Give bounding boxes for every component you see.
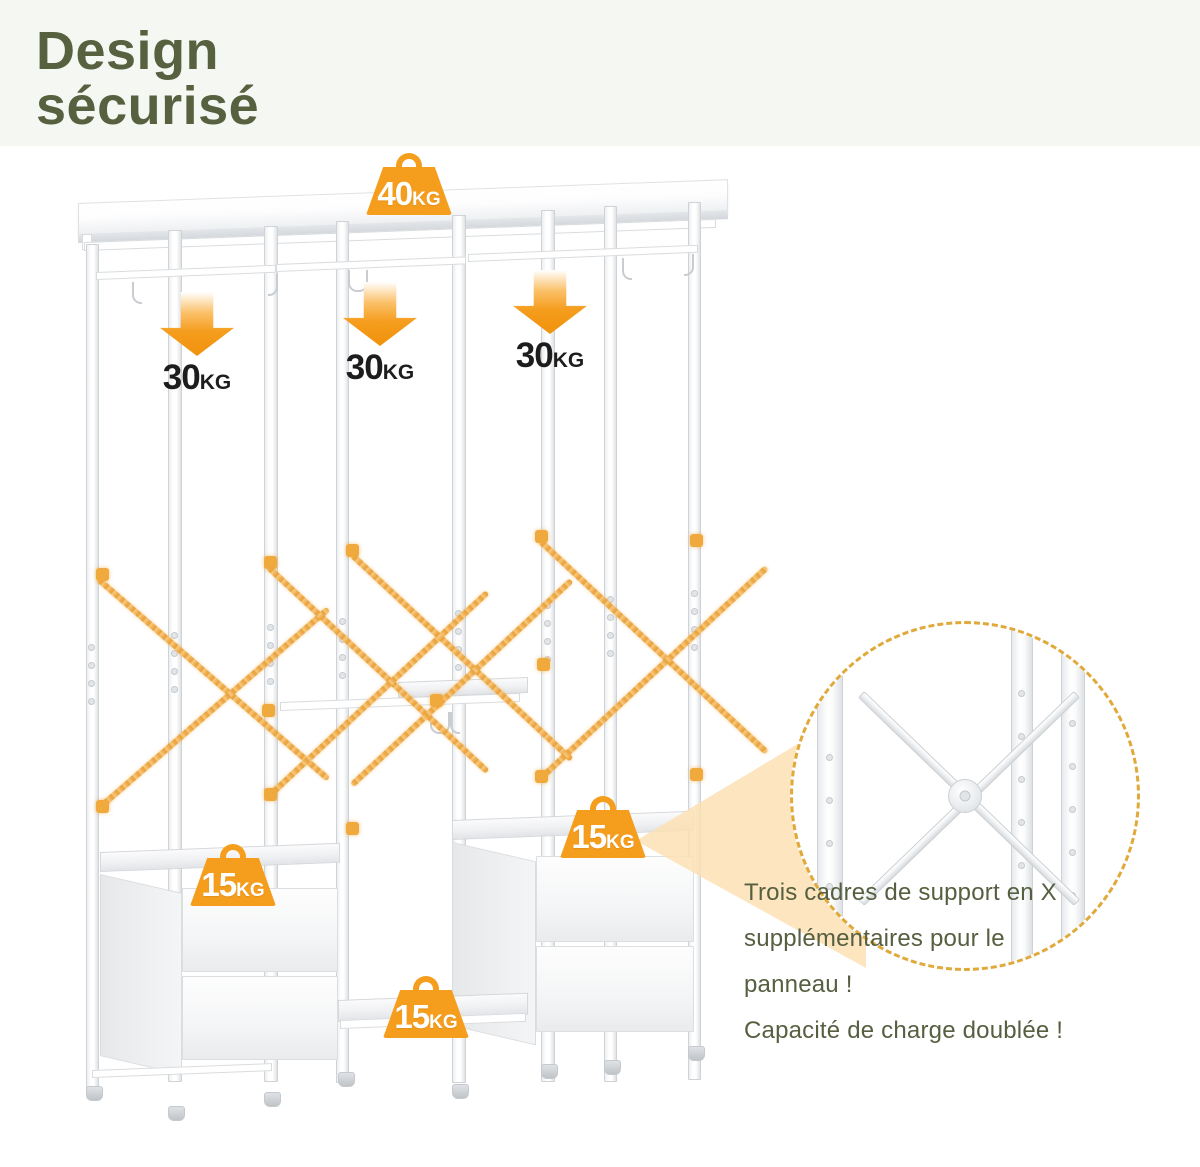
- caption-line-2: supplémentaires pour le: [744, 916, 1184, 962]
- x-brace-knot-1-top: [96, 568, 109, 581]
- badge-unit: KG: [606, 832, 635, 853]
- load-unit: KG: [553, 349, 585, 372]
- page-title: Design sécurisé: [36, 24, 259, 134]
- caption-line-3: panneau !: [744, 962, 1184, 1008]
- foot-3: [264, 1092, 281, 1107]
- rivets-post-1: [88, 644, 95, 705]
- x-brace-knot-4-end-top: [690, 534, 703, 547]
- x-brace-1-a: [96, 577, 330, 782]
- foot-5: [452, 1084, 469, 1099]
- caption-line-1: Trois cadres de support en X: [744, 870, 1184, 916]
- x-brace-4-a: [538, 539, 769, 755]
- foot-2: [168, 1106, 185, 1121]
- load-label-rod-left: 30KG: [132, 292, 262, 395]
- hanging-rod-right: [468, 245, 698, 262]
- badge-unit: KG: [429, 1012, 458, 1033]
- badge-left-shelf-15kg: 15KG: [190, 844, 276, 906]
- badge-right-shelf-15kg: 15KG: [560, 796, 646, 858]
- x-brace-knot-2-top: [264, 556, 277, 569]
- load-value: 30: [163, 358, 200, 397]
- foot-1: [86, 1086, 103, 1101]
- load-value: 30: [516, 336, 553, 375]
- hook-icon-center-c: [450, 712, 460, 734]
- zoom-x-center-bolt: [948, 779, 982, 813]
- drawer-right-top[interactable]: [536, 856, 694, 942]
- badge-value: 40: [377, 175, 412, 212]
- x-brace-knot-2-bot: [264, 788, 277, 801]
- foot-7: [604, 1060, 621, 1075]
- load-label-rod-middle: 30KG: [315, 282, 445, 385]
- down-arrow-icon: [160, 292, 234, 356]
- x-brace-knot-1-bot: [96, 800, 109, 813]
- rivets-post-8: [691, 590, 698, 651]
- load-unit: KG: [200, 371, 232, 394]
- badge-value: 15: [394, 998, 429, 1035]
- drawer-left-bottom[interactable]: [182, 976, 338, 1060]
- rivets-post-6: [544, 602, 551, 663]
- badge-unit: KG: [412, 189, 441, 210]
- x-brace-cross-3: [537, 658, 550, 671]
- load-label-rod-right: 30KG: [485, 270, 615, 373]
- hanging-rod-left: [96, 265, 276, 280]
- load-value: 30: [346, 348, 383, 387]
- x-brace-knot-4-top: [535, 530, 548, 543]
- foot-8: [688, 1046, 705, 1061]
- caption-line-4: Capacité de charge doublée !: [744, 1008, 1184, 1054]
- x-brace-knot-4-end-bot: [690, 768, 703, 781]
- down-arrow-icon: [513, 270, 587, 334]
- drawer-right-bottom[interactable]: [536, 946, 694, 1032]
- x-brace-knot-3-top: [346, 544, 359, 557]
- badge-bottom-shelf-15kg: 15KG: [383, 976, 469, 1038]
- foot-6: [541, 1064, 558, 1079]
- badge-top-shelf-40kg: 40KG: [366, 153, 452, 215]
- drawer-left-side-panel: [100, 874, 182, 1075]
- feature-caption: Trois cadres de support en X supplémenta…: [744, 870, 1184, 1054]
- hook-icon-right-a: [622, 258, 632, 280]
- x-brace-knot-3-bot: [346, 822, 359, 835]
- x-brace-knot-4-bot: [535, 770, 548, 783]
- load-unit: KG: [383, 361, 415, 384]
- badge-value: 15: [201, 866, 236, 903]
- x-brace-cross-2: [430, 694, 443, 707]
- rivets-post-4: [339, 618, 346, 679]
- badge-value: 15: [571, 818, 606, 855]
- badge-unit: KG: [236, 880, 265, 901]
- x-brace-4-b: [538, 565, 769, 781]
- hanging-rod-middle: [276, 256, 466, 272]
- x-brace-cross-1: [262, 704, 275, 717]
- foot-4: [338, 1072, 355, 1087]
- down-arrow-icon: [343, 282, 417, 346]
